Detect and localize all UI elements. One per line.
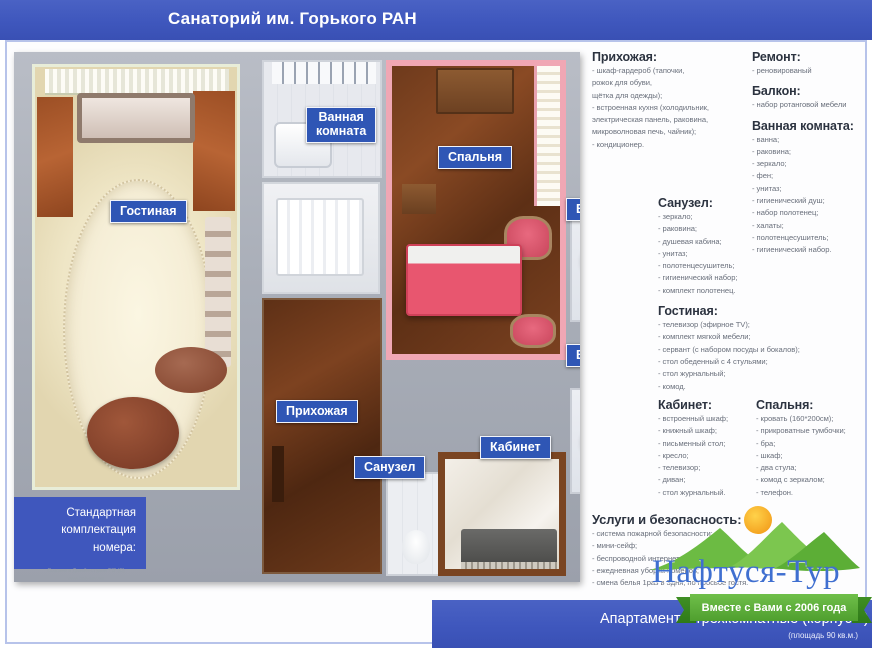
room-study (438, 452, 566, 576)
second-bed (276, 198, 364, 276)
spec-section-bathroom: Ванная комната: ванна; раковина; зеркало… (752, 119, 868, 257)
room-hallway (262, 298, 382, 574)
spec-item: диван; (658, 474, 744, 486)
label-balcony-2: Балкон (566, 344, 580, 367)
spec-section-living: Гостиная: телевизор (эфирное TV); компле… (658, 304, 778, 393)
label-bathroom-line2: комната (316, 124, 366, 138)
spec-item: кресло; (658, 450, 744, 462)
standard-equipment-line1: Стандартная (61, 505, 136, 522)
standard-equipment-line2: комплектация (61, 522, 136, 539)
spec-item: стол обеденный с 4 стульями; (658, 356, 778, 368)
spec-section-study: Кабинет: встроенный шкаф; книжный шкаф; … (658, 398, 744, 499)
spec-item: письменный стол; (658, 438, 744, 450)
spec-item: комплект мягкой мебели; (658, 331, 778, 343)
spec-item: электрическая панель, раковина, (592, 114, 670, 126)
spec-item: телевизор; (658, 462, 744, 474)
study-sofa (461, 529, 557, 565)
spec-item: полотенцесушитель; (752, 232, 868, 244)
credit-line2: www.balyaev.net (26, 576, 146, 584)
spec-item: беспроводной интернет Wi-Fi; (592, 553, 742, 565)
spec-item: комод. (658, 381, 778, 393)
living-sofa (77, 93, 195, 143)
spec-list-bathroom: ванна; раковина; зеркало; фен; унитаз; г… (752, 134, 868, 257)
spec-item: книжный шкаф; (658, 425, 744, 437)
room-second-bed-area (262, 182, 380, 294)
spec-section-repair: Ремонт: реновированый (752, 50, 868, 77)
spec-section-bedroom: Спальня: кровать (160*200см); прикроватн… (756, 398, 868, 499)
credit-line1: Создано в Дизайн-студия 'ГЭ' (С) (26, 568, 146, 576)
spec-heading-bathroom: Ванная комната: (752, 119, 868, 133)
study-sofa-fringe (461, 562, 557, 569)
brochure-page: Санаторий им. Горького РАН (0, 0, 872, 648)
label-bedroom: Спальня (438, 146, 512, 169)
spec-item: микроволновая печь, чайник); (592, 126, 670, 138)
anniversary-ribbon: Вместе с Вами с 2006 года (676, 594, 872, 621)
spec-list-services: система пожарной безопасности; мини-сейф… (592, 528, 742, 589)
bedroom-curtain (534, 66, 560, 206)
spec-item: кровать (160*200см); (756, 413, 868, 425)
standard-equipment-text: Стандартная комплектация номера: (61, 505, 136, 557)
label-bathroom: Ванная комната (306, 107, 376, 143)
spec-item: реновированый (752, 65, 868, 77)
spec-heading-study: Кабинет: (658, 398, 744, 412)
label-study: Кабинет (480, 436, 551, 459)
spec-heading-living: Гостиная: (658, 304, 778, 318)
spec-item: унитаз; (752, 183, 868, 195)
bedroom-bed (406, 244, 522, 316)
spec-item: два стула; (756, 462, 868, 474)
living-wood-floor-right (193, 91, 235, 211)
standard-equipment-line3: номера: (61, 540, 136, 557)
spec-item: фен; (752, 170, 868, 182)
bedroom-dresser (436, 68, 514, 114)
spec-item: телефон. (756, 487, 868, 499)
spec-item: стол журнальный; (658, 368, 778, 380)
room-bedroom (386, 60, 566, 360)
spec-item: кондиционер. (592, 139, 670, 151)
living-dining-table (87, 397, 179, 469)
label-wc: Санузел (354, 456, 425, 479)
wc-toilet (402, 530, 430, 564)
header-banner: Санаторий им. Горького РАН (0, 0, 872, 40)
spec-item: сервант (с набором посуды и бокалов); (658, 344, 778, 356)
spec-item: рожок для обуви, (592, 77, 670, 89)
spec-item: мини-сейф; (592, 540, 742, 552)
ribbon-body: Вместе с Вами с 2006 года (690, 594, 858, 621)
page-title: Санаторий им. Горького РАН (168, 9, 417, 29)
spec-item: встроенный шкаф; (658, 413, 744, 425)
spec-item: гигиенический душ; (752, 195, 868, 207)
footer-subtitle: (площадь 90 кв.м.) (788, 631, 858, 640)
spec-item: стол журнальный. (658, 487, 744, 499)
standard-equipment-box: Стандартная комплектация номера: (14, 497, 146, 569)
spec-list-repair: реновированый (752, 65, 868, 77)
spec-list-bedroom: кровать (160*200см); прикроватные тумбоч… (756, 413, 868, 499)
living-wood-floor-left (37, 97, 73, 217)
spec-item: ванна; (752, 134, 868, 146)
spec-item: прикроватные тумбочки; (756, 425, 868, 437)
spec-item: раковина; (752, 146, 868, 158)
room-balcony-2 (570, 388, 580, 494)
spec-item: смена белья 1раз в 3дня, по просьбе гост… (592, 577, 742, 589)
label-living: Гостиная (110, 200, 187, 223)
spec-item: гигиенический набор; (658, 272, 778, 284)
spec-heading-services: Услуги и безопасность: (592, 512, 742, 527)
spec-item: щётка для одежды); (592, 90, 670, 102)
spec-heading-repair: Ремонт: (752, 50, 868, 64)
spec-list-balcony: набор ротанговой мебели (752, 99, 868, 111)
spec-item: набор полотенец; (752, 207, 868, 219)
label-balcony-1: Балкон (566, 198, 580, 221)
ribbon-text: Вместе с Вами с 2006 года (702, 602, 847, 614)
bedroom-nightstand (402, 184, 436, 214)
spec-list-living: телевизор (эфирное TV); комплект мягкой … (658, 319, 778, 393)
spec-item: комплект полотенец. (658, 285, 778, 297)
spec-item: система пожарной безопасности; (592, 528, 742, 540)
living-side-table (155, 347, 227, 393)
spec-section-hallway: Прихожая: шкаф-гардероб (тапочки, рожок … (592, 50, 670, 151)
spec-heading-balcony: Балкон: (752, 84, 868, 98)
spec-item: набор ротанговой мебели (752, 99, 868, 111)
spec-item: гигиенический набор. (752, 244, 868, 256)
spec-section-balcony: Балкон: набор ротанговой мебели (752, 84, 868, 111)
spec-item: ежедневная уборка номеров; (592, 565, 742, 577)
room-living (32, 64, 240, 490)
bathroom-window (272, 62, 376, 84)
spec-item: комод с зеркалом; (756, 474, 868, 486)
spec-item: халаты; (752, 220, 868, 232)
designer-credit: Создано в Дизайн-студия 'ГЭ' (С) www.bal… (26, 568, 146, 583)
spec-list-hallway: шкаф-гардероб (тапочки, рожок для обуви,… (592, 65, 670, 151)
spec-item: шкаф; (756, 450, 868, 462)
label-hallway: Прихожая (276, 400, 358, 423)
spec-item: встроенная кухня (холодильник, (592, 102, 670, 114)
label-bathroom-line1: Ванная (316, 110, 366, 124)
spec-heading-bedroom: Спальня: (756, 398, 868, 412)
living-chairs (205, 217, 231, 367)
spec-item: телевизор (эфирное TV); (658, 319, 778, 331)
spec-item: бра; (756, 438, 868, 450)
spec-item: зеркало; (752, 158, 868, 170)
spec-item: шкаф-гардероб (тапочки, (592, 65, 670, 77)
spec-section-services: Услуги и безопасность: система пожарной … (592, 512, 742, 589)
spec-heading-hallway: Прихожая: (592, 50, 670, 64)
bedroom-armchair-2 (510, 314, 556, 348)
spec-list-study: встроенный шкаф; книжный шкаф; письменны… (658, 413, 744, 499)
hallway-door (272, 446, 284, 502)
